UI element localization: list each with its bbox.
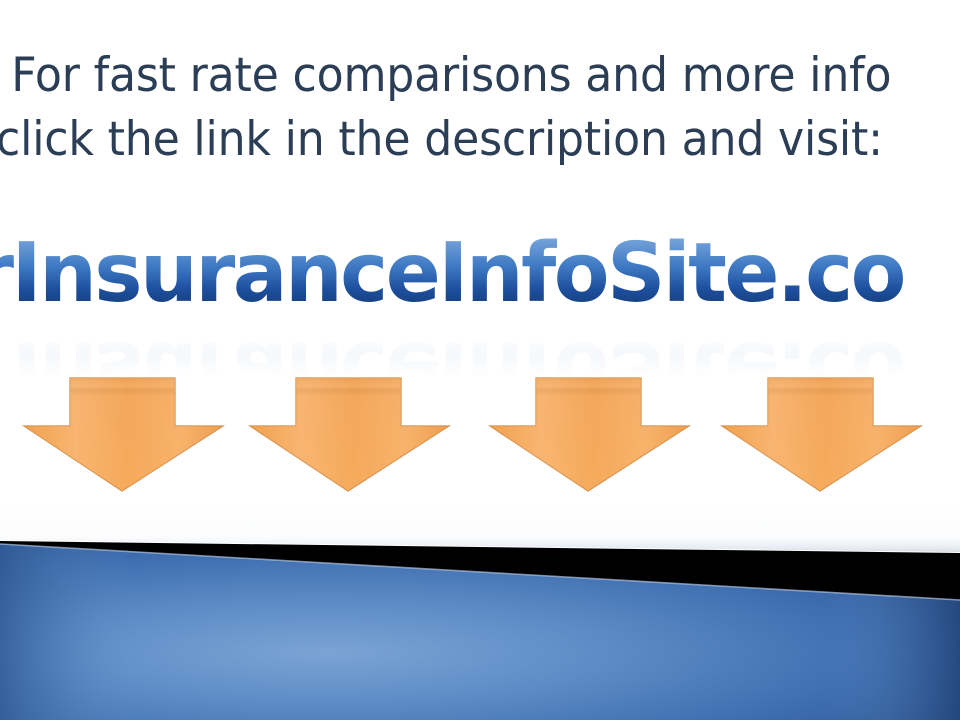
url-wordmark-reflection: rInsuranceInfoSite.co xyxy=(0,322,904,376)
down-arrow-1 xyxy=(20,374,228,496)
down-arrow-3 xyxy=(486,374,694,496)
footer-band xyxy=(0,500,960,720)
promo-slide: For fast rate comparisons and more info … xyxy=(0,0,960,720)
arrow-row xyxy=(0,374,960,500)
headline-text: For fast rate comparisons and more info … xyxy=(0,44,960,184)
url-wordmark-text[interactable]: rInsuranceInfoSite.co xyxy=(0,226,904,322)
down-arrow-2 xyxy=(246,374,454,496)
url-wordmark[interactable]: rInsuranceInfoSite.co rInsuranceInfoSite… xyxy=(0,226,960,376)
down-arrow-4 xyxy=(718,374,926,496)
headline-line-2: click the link in the description and vi… xyxy=(0,108,902,172)
headline-line-1: For fast rate comparisons and more info xyxy=(0,44,902,108)
